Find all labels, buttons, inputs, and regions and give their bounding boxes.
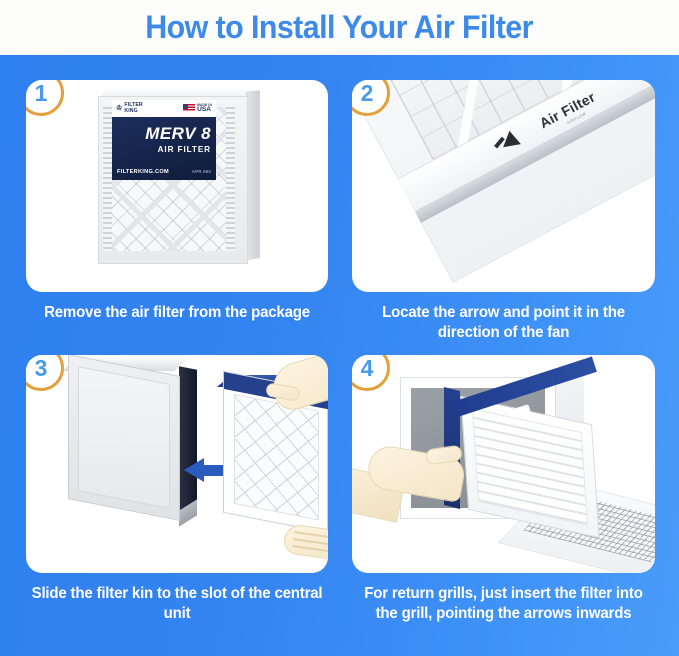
- filter-mesh: [234, 394, 319, 521]
- filter-left-rib: [103, 107, 112, 251]
- filter-right-rib: [226, 107, 235, 251]
- air-filter-product-photo: ♔ FILTER KING MADE IN: [94, 92, 262, 268]
- label-header: ♔ FILTER KING MADE IN: [112, 100, 216, 117]
- merv-rating: MERV 8: [112, 124, 211, 144]
- step-1: 1 ♔: [26, 80, 328, 323]
- step-2: 2 Air Filter AIRFLOW: [352, 80, 655, 343]
- page-title: How to Install Your Air Filter: [146, 9, 534, 46]
- grill-louvers: [472, 408, 588, 525]
- step-1-card: 1 ♔: [26, 80, 328, 292]
- infographic-page: How to Install Your Air Filter 1: [0, 0, 679, 656]
- step-3-caption: Slide the filter kin to the slot of the …: [31, 584, 324, 624]
- filter-side-edge: [246, 90, 260, 260]
- step-2-illustration: Air Filter AIRFLOW: [352, 80, 655, 292]
- usa-text: MADE IN USA: [197, 104, 212, 114]
- step-3-card: 3: [26, 355, 328, 573]
- left-arrow-icon: [184, 458, 204, 482]
- step-4: 4: [352, 355, 655, 624]
- label-apr: APR 650: [192, 169, 211, 174]
- step-1-illustration: ♔ FILTER KING MADE IN: [26, 80, 328, 292]
- brand-logo: ♔ FILTER KING: [116, 103, 143, 114]
- step-2-caption: Locate the arrow and point it in the dir…: [357, 303, 651, 343]
- airflow-arrow-icon: [501, 129, 521, 147]
- label-footer: FILTERKING.COM APR 650: [117, 169, 211, 175]
- usa-flag-icon: [183, 104, 195, 112]
- step-2-card: 2 Air Filter AIRFLOW: [352, 80, 655, 292]
- step-1-caption: Remove the air filter from the package: [31, 303, 324, 323]
- central-unit-panel: [68, 355, 180, 521]
- step-4-illustration: [352, 355, 655, 573]
- step-4-card: 4: [352, 355, 655, 573]
- step-4-caption: For return grills, just insert the filte…: [357, 584, 651, 624]
- header-bar: How to Install Your Air Filter: [0, 0, 679, 55]
- filter-body: Air Filter AIRFLOW: [352, 80, 655, 283]
- step-3: 3: [26, 355, 328, 624]
- hand-lower: [282, 523, 328, 561]
- step-3-illustration: [26, 355, 328, 573]
- label-subtitle: AIR FILTER: [112, 145, 211, 154]
- central-unit-inner: [78, 366, 170, 509]
- steps-grid: 1 ♔: [0, 55, 679, 656]
- filter-corner-scene: Air Filter AIRFLOW: [352, 80, 655, 292]
- made-in-usa: MADE IN USA: [183, 104, 212, 114]
- central-unit-slot: [179, 366, 197, 515]
- label-website: FILTERKING.COM: [117, 169, 169, 175]
- crown-icon: ♔: [116, 105, 122, 112]
- brand-text: FILTER KING: [124, 103, 142, 114]
- filter-product-label: ♔ FILTER KING MADE IN: [112, 100, 216, 180]
